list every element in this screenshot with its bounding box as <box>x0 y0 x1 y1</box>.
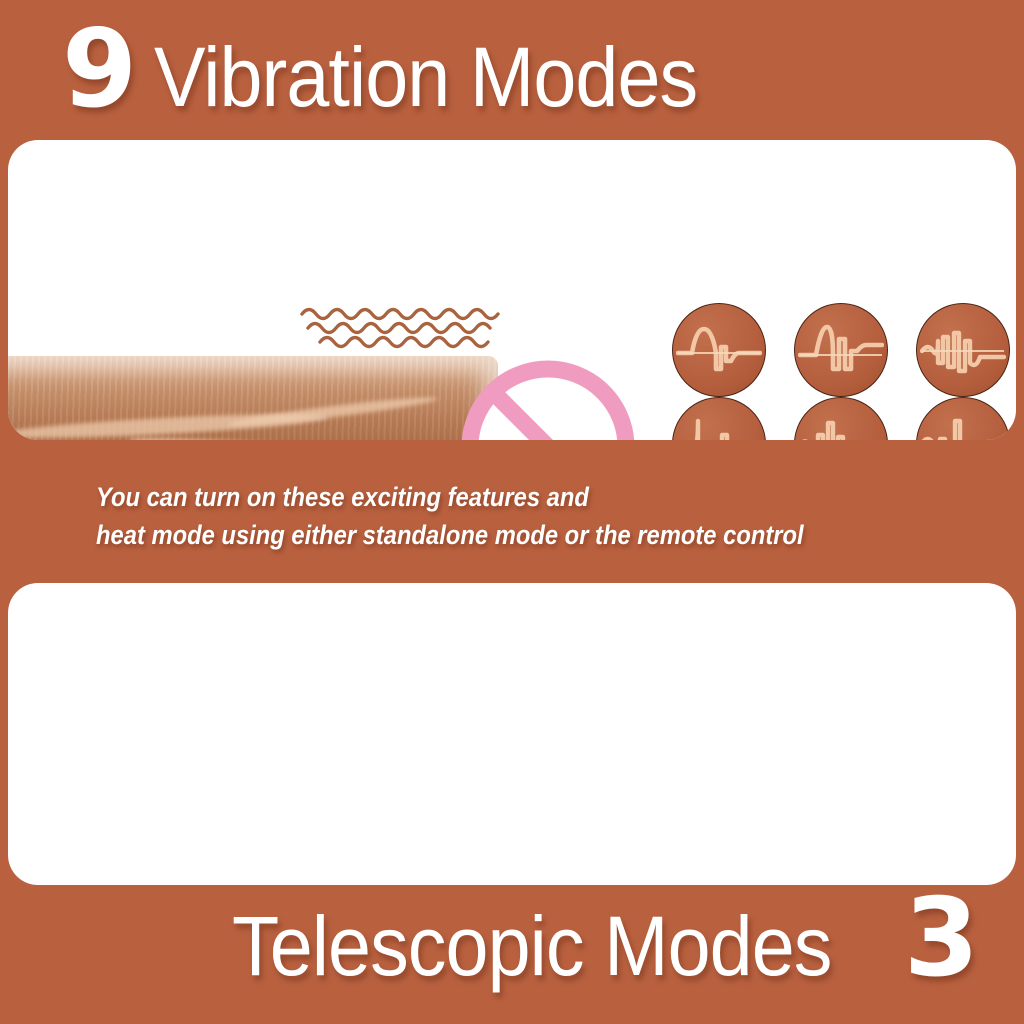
vibration-heading-text: Vibration Modes <box>154 35 697 119</box>
texture-vein <box>228 393 438 430</box>
bottom-heading: Telescopic Modes 3 <box>232 885 978 993</box>
telescopic-heading-text: Telescopic Modes <box>232 904 832 988</box>
vibration-mode-5[interactable] <box>794 397 888 440</box>
infographic-canvas: 9 Vibration Modes <box>0 0 1024 1024</box>
feature-caption: You can turn on these exciting features … <box>96 478 826 555</box>
telescopic-panel <box>8 583 1016 885</box>
vibration-mode-3[interactable] <box>916 303 1010 397</box>
vibration-panel <box>8 140 1016 440</box>
prohibition-circle-icon <box>457 356 639 440</box>
top-heading: 9 Vibration Modes <box>62 16 745 124</box>
vibration-mode-badge-grid <box>672 303 1016 440</box>
caption-line-1: You can turn on these exciting features … <box>96 478 826 516</box>
vibration-mode-2[interactable] <box>794 303 888 397</box>
vibration-mode-1[interactable] <box>672 303 766 397</box>
texture-vein <box>128 434 428 440</box>
vibration-mode-4[interactable] <box>672 397 766 440</box>
wavy-vibration-lines-top-icon <box>298 300 518 354</box>
product-photo-shaft <box>8 356 498 440</box>
caption-line-2: heat mode using either standalone mode o… <box>96 516 826 554</box>
telescopic-mode-count: 3 <box>904 885 978 993</box>
vibration-mode-count: 9 <box>62 16 136 124</box>
vibration-mode-6[interactable] <box>916 397 1010 440</box>
